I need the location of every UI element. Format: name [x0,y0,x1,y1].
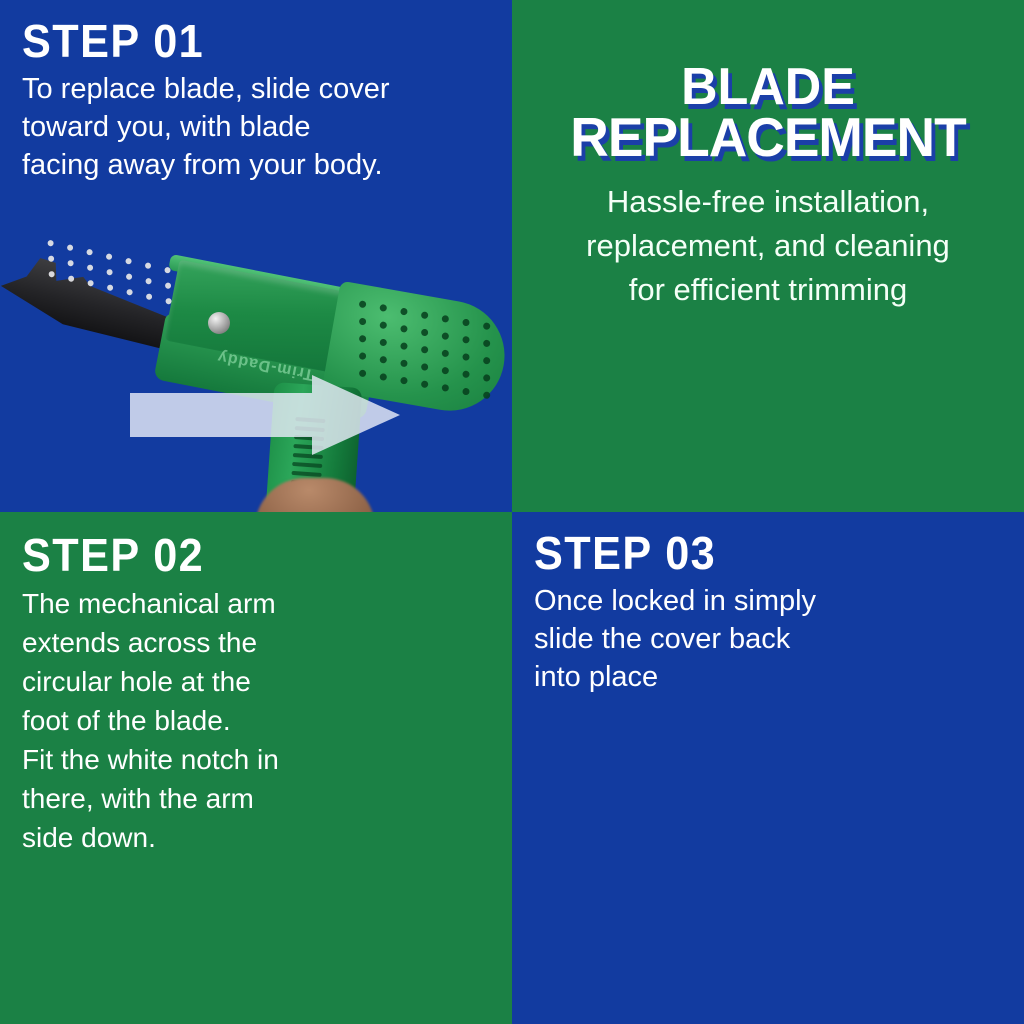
step-01-body: To replace blade, slide cover toward you… [22,70,462,184]
step-01-heading: STEP 01 [22,18,204,64]
hero-title-line-2: REPLACEMENT [520,112,1017,162]
panel-hero: BLADE REPLACEMENT Hassle-free installati… [512,0,1024,512]
step-03-heading: STEP 03 [534,530,716,576]
step-02-body: The mechanical arm extends across the ci… [22,584,342,857]
step-02-heading: STEP 02 [22,532,204,578]
infographic-board: Trim-Daddy STEP 01 To replace blade, sli… [0,0,1024,1024]
pivot-rivet [208,312,230,334]
panel-step-03: Trim-Daddy STEP 03 Once locked in simply… [512,512,1024,1024]
hero-subtitle: Hassle-free installation, replacement, a… [518,180,1018,312]
hero-title-block: BLADE REPLACEMENT Hassle-free installati… [512,62,1024,162]
panel-step-02: STEP 02 The mechanical arm extends acros… [0,512,512,1024]
slide-arrow-right-icon [130,375,400,455]
hero-title: BLADE REPLACEMENT [520,62,1017,162]
panel-step-01: Trim-Daddy STEP 01 To replace blade, sli… [0,0,512,512]
step-03-body: Once locked in simply slide the cover ba… [534,582,934,696]
